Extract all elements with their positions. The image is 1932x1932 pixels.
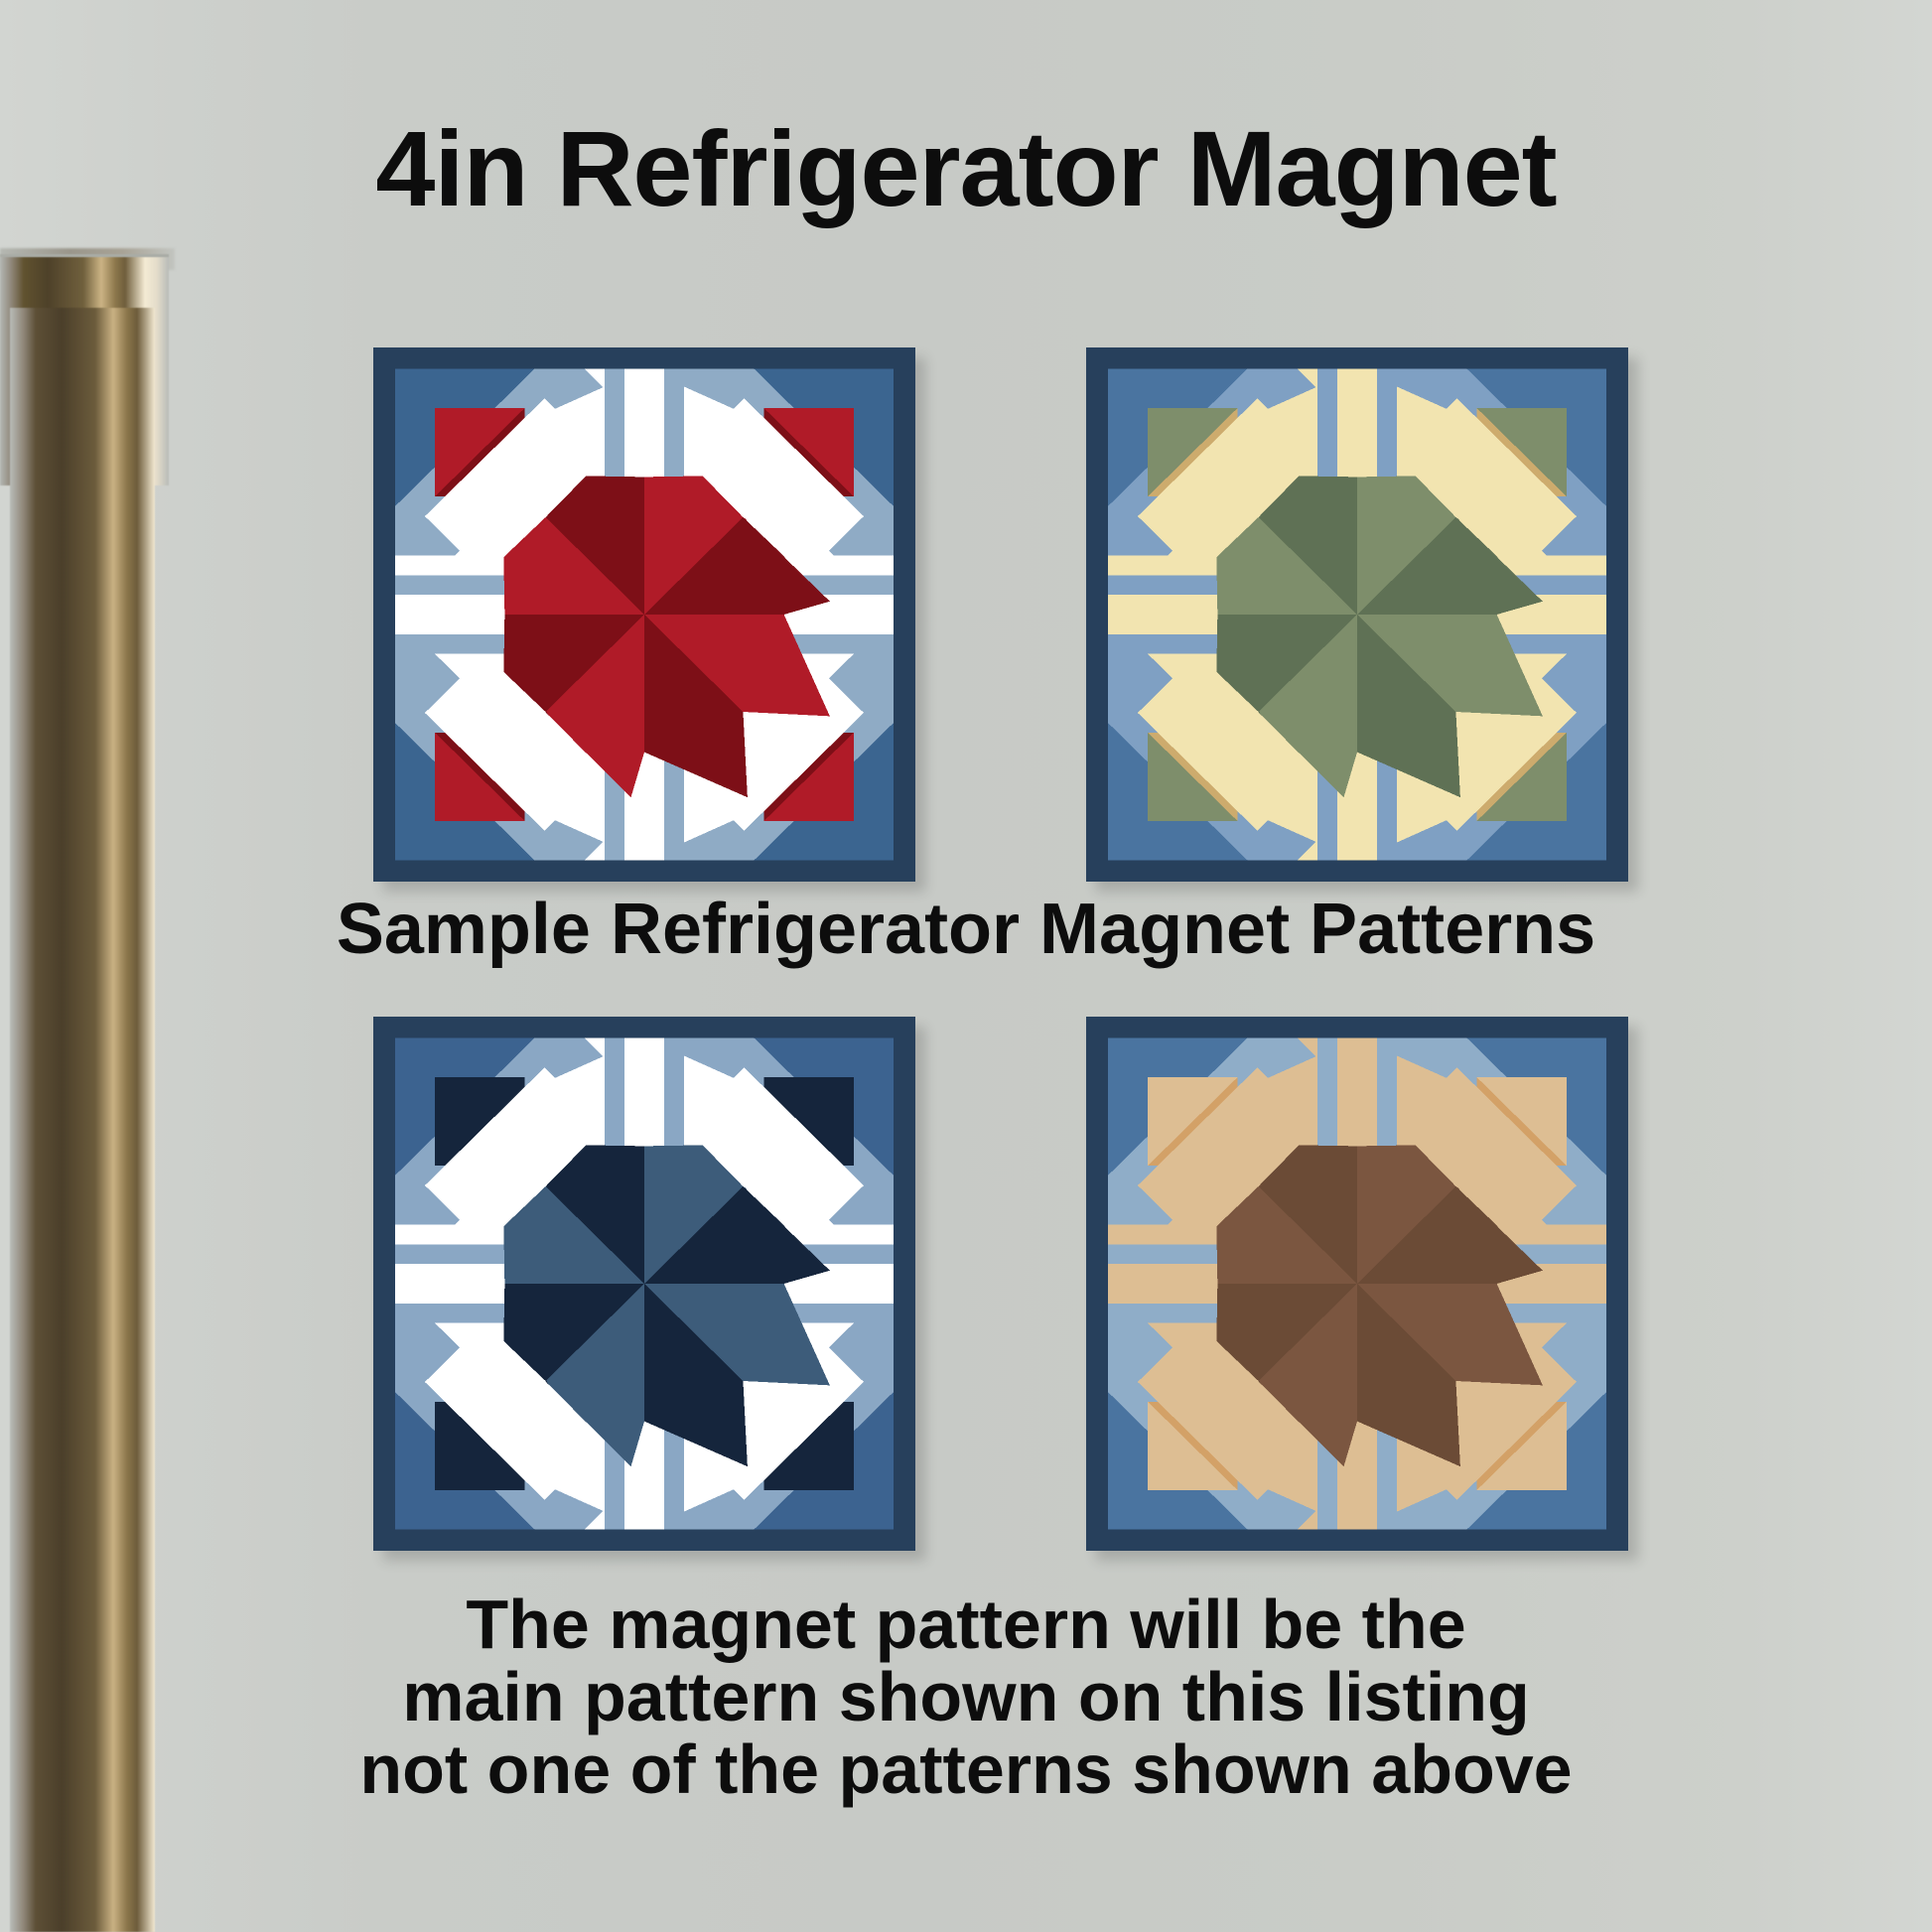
quilt-field <box>1108 1038 1606 1530</box>
barn-quilt-block-cream-sage-blue <box>1086 347 1628 882</box>
footnote-line-1: The magnet pattern will be the <box>0 1588 1932 1661</box>
quilt-field <box>395 1038 894 1530</box>
quilt-block-2[interactable] <box>1086 347 1628 882</box>
barn-quilt-block-red-white-blue <box>373 347 915 882</box>
footnote: The magnet pattern will be the main patt… <box>0 1588 1932 1805</box>
page-title: 4in Refrigerator Magnet <box>0 115 1932 222</box>
quilt-field <box>1108 369 1606 861</box>
screenshot-stage: 4in Refrigerator Magnet Sample Refrigera… <box>0 0 1932 1932</box>
quilt-field <box>395 369 894 861</box>
barn-quilt-block-tan-brown-blue <box>1086 1017 1628 1551</box>
quilt-block-3[interactable] <box>373 1017 915 1551</box>
footnote-line-2: main pattern shown on this listing <box>0 1661 1932 1733</box>
quilt-block-4[interactable] <box>1086 1017 1628 1551</box>
samples-caption: Sample Refrigerator Magnet Patterns <box>0 894 1932 965</box>
barn-quilt-block-blue-white <box>373 1017 915 1551</box>
footnote-line-3: not one of the patterns shown above <box>0 1733 1932 1806</box>
quilt-block-1[interactable] <box>373 347 915 882</box>
